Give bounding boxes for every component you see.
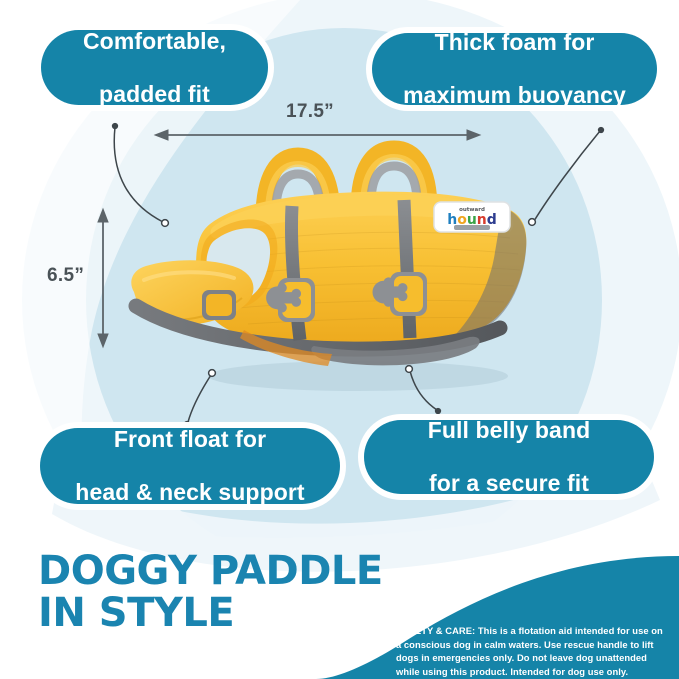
callout-comfortable-padded-fit[interactable]: Comfortable, padded fit	[41, 30, 268, 105]
leader-line-foam	[534, 131, 600, 221]
safety-heading: SAFETY & CARE:	[396, 625, 475, 636]
callout-foam-line1: Thick foam for	[386, 29, 643, 56]
safety-and-care-text: SAFETY & CARE: This is a flotation aid i…	[396, 624, 668, 678]
dimension-height-label: 6.5”	[47, 265, 84, 287]
leader-end-foam	[529, 219, 536, 226]
infographic-canvas: outward hound	[0, 0, 679, 679]
callout-comfort-line2: padded fit	[55, 81, 254, 108]
callout-belly-line2: for a secure fit	[378, 470, 640, 497]
headline-line-1: DOGGY PADDLE	[38, 548, 383, 594]
leader-line-comfort	[114, 127, 163, 222]
leader-end-comfort	[162, 220, 169, 227]
callout-comfort-line1: Comfortable,	[55, 28, 254, 55]
callout-front-line2: head & neck support	[54, 479, 326, 506]
dim-width-arrow-right	[467, 130, 480, 140]
callout-foam-line2: maximum buoyancy	[386, 82, 643, 109]
callout-front-line1: Front float for	[54, 426, 326, 453]
leader-dot-foam	[599, 128, 604, 133]
leader-end-belly-band	[406, 366, 413, 373]
leader-dot-comfort	[113, 124, 118, 129]
dim-height-arrow-top	[98, 209, 108, 222]
dim-height-arrow-bottom	[98, 334, 108, 347]
callout-front-float-support[interactable]: Front float for head & neck support	[40, 428, 340, 504]
callout-belly-line1: Full belly band	[378, 417, 640, 444]
leader-line-front-float	[188, 375, 211, 422]
dim-width-arrow-left	[155, 130, 168, 140]
callout-thick-foam-buoyancy[interactable]: Thick foam for maximum buoyancy	[372, 33, 657, 105]
leader-dot-belly-band	[436, 409, 441, 414]
leader-line-belly-band	[410, 371, 437, 410]
leader-end-front-float	[209, 370, 216, 377]
callout-full-belly-band[interactable]: Full belly band for a secure fit	[364, 420, 654, 494]
page-title: DOGGY PADDLE IN STYLE	[38, 551, 468, 634]
dimension-width-label: 17.5”	[286, 101, 334, 123]
